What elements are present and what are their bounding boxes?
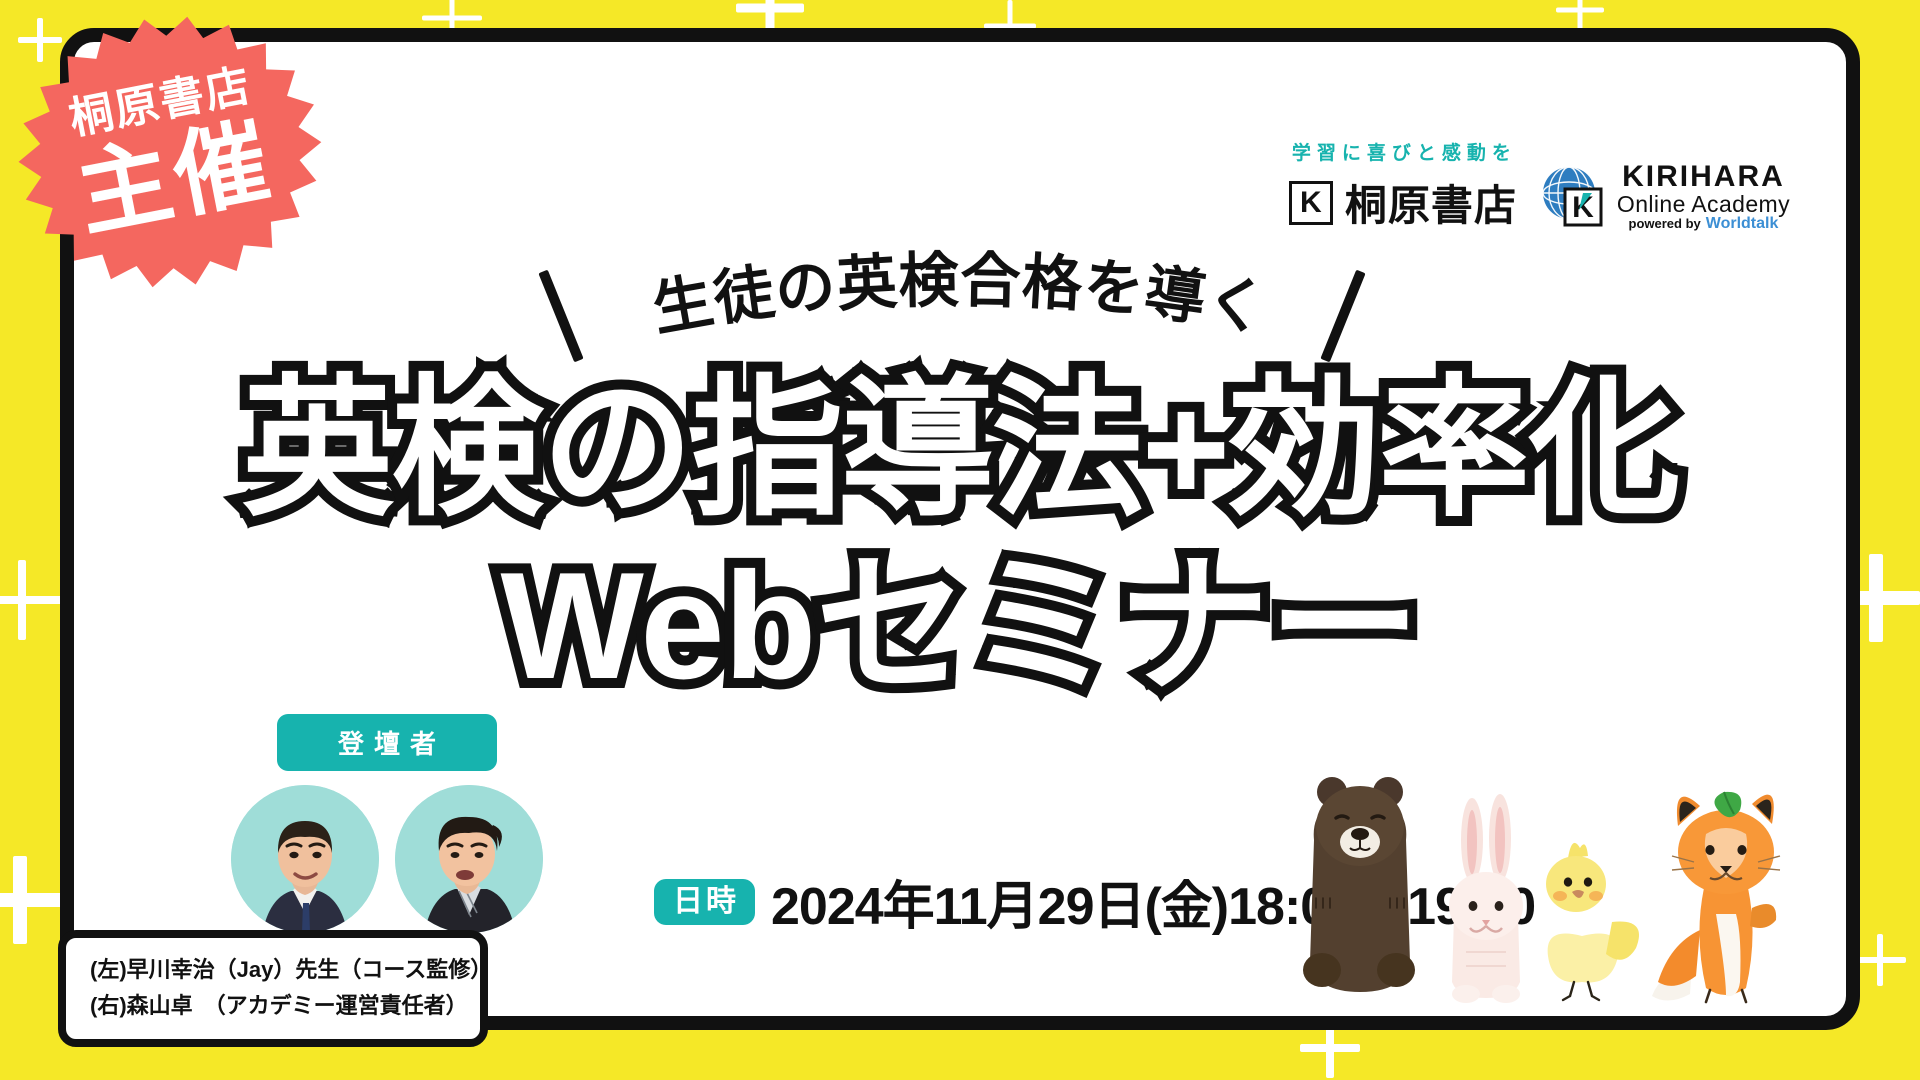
speakers-badge: 登壇者	[277, 714, 497, 771]
rabbit-illustration	[1449, 794, 1523, 1003]
datetime-badge: 日時	[654, 879, 755, 925]
academy-powered-prefix: powered by	[1629, 217, 1701, 231]
kirihara-publisher-logo: 学習に喜びと感動を K 桐原書店	[1289, 138, 1517, 233]
speaker-name-right: (右)森山卓 （アカデミー運営責任者）	[90, 988, 470, 1024]
sparkle-icon	[0, 856, 64, 944]
kirihara-name: 桐原書店	[1345, 172, 1517, 233]
speaker-name-left: (左)早川幸治（Jay）先生（コース監修）	[90, 952, 470, 988]
speaker-photo-right	[395, 785, 543, 933]
animal-illustrations	[1276, 730, 1836, 1020]
sparkle-icon	[1854, 934, 1906, 986]
kirihara-online-academy-logo: K KIRIHARA Online Academy powered by Wor…	[1539, 161, 1790, 233]
kirihara-k-mark-icon: K	[1289, 181, 1333, 225]
logo-cluster: 学習に喜びと感動を K 桐原書店 K	[1289, 138, 1790, 233]
speaker-names-box: (左)早川幸治（Jay）先生（コース監修） (右)森山卓 （アカデミー運営責任者…	[58, 930, 488, 1047]
globe-icon: K	[1539, 163, 1607, 231]
bear-illustration	[1303, 777, 1415, 992]
headline-line-1: 英検の指導法+効率化	[74, 372, 1846, 527]
headline-block: 英検の指導法+効率化 Webセミナー	[74, 372, 1846, 704]
speaker-photo-left	[231, 785, 379, 933]
speakers-block: 登壇者	[222, 714, 552, 933]
fox-illustration	[1652, 792, 1780, 1002]
cockatiel-illustration	[1546, 843, 1639, 1000]
academy-powered-brand: Worldtalk	[1706, 216, 1779, 233]
academy-title: KIRIHARA	[1622, 161, 1785, 193]
academy-subtitle: Online Academy	[1617, 192, 1790, 216]
animals-svg	[1276, 730, 1836, 1020]
svg-text:生徒の英検合格を導く: 生徒の英検合格を導く	[647, 247, 1272, 344]
kirihara-tagline: 学習に喜びと感動を	[1292, 138, 1517, 165]
headline-line-2: Webセミナー	[74, 549, 1846, 704]
arched-subtitle: 生徒の英検合格を導く	[500, 257, 1420, 377]
sparkle-icon	[0, 560, 62, 640]
